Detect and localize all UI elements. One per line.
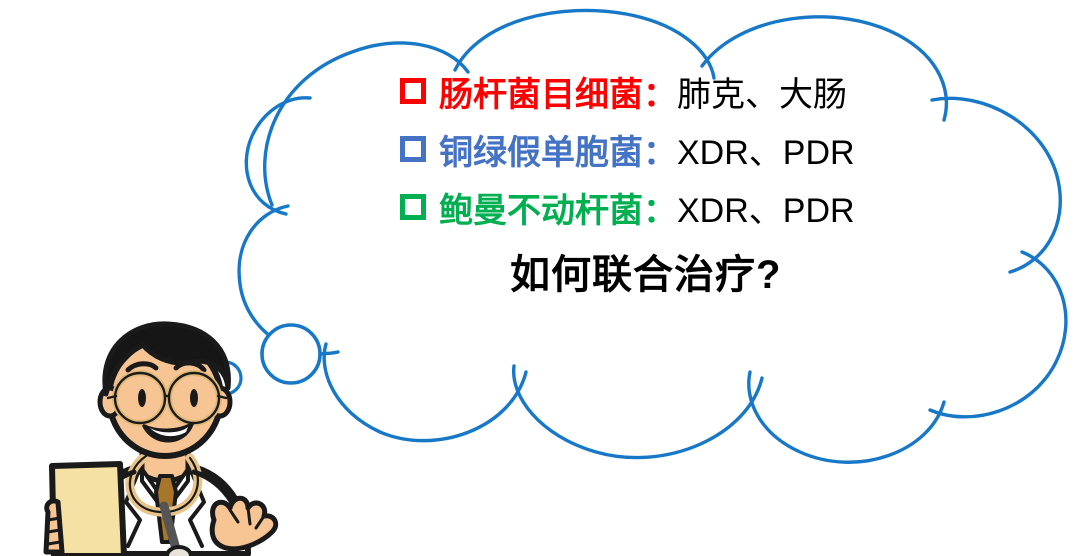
bullet-term-enterobacterales: 肠杆菌目细菌 [439,67,643,116]
bullet-separator-3: ： [643,183,677,232]
bullet-row-enterobacterales: 肠杆菌目细菌 ： 肺克、大肠 [400,62,980,120]
cartoon-doctor [42,306,312,556]
bullet-marker-blue [400,136,426,162]
doctor-eye-right [190,389,198,407]
question-text: 如何联合治疗? [400,242,980,300]
bullet-separator-2: ： [643,125,677,174]
doctor-hand-right [212,498,276,549]
bullet-detail-enterobacterales: 肺克、大肠 [677,67,847,116]
bullet-row-acinetobacter: 鲍曼不动杆菌 ： XDR、PDR [400,178,980,236]
doctor-eye-left [138,389,146,407]
bullet-detail-pseudomonas: XDR、PDR [677,125,855,174]
bullet-marker-red [400,78,426,104]
stethoscope-chestpiece [167,547,191,556]
bullet-row-pseudomonas: 铜绿假单胞菌 ： XDR、PDR [400,120,980,178]
bullet-separator-1: ： [643,67,677,116]
bullet-term-acinetobacter: 鲍曼不动杆菌 [439,183,643,232]
slide-canvas: 肠杆菌目细菌 ： 肺克、大肠 铜绿假单胞菌 ： XDR、PDR 鲍曼不动杆菌 ：… [0,0,1080,556]
thought-content: 肠杆菌目细菌 ： 肺克、大肠 铜绿假单胞菌 ： XDR、PDR 鲍曼不动杆菌 ：… [400,62,980,300]
bullet-marker-green [400,194,426,220]
bullet-detail-acinetobacter: XDR、PDR [677,183,855,232]
bullet-term-pseudomonas: 铜绿假单胞菌 [439,125,643,174]
